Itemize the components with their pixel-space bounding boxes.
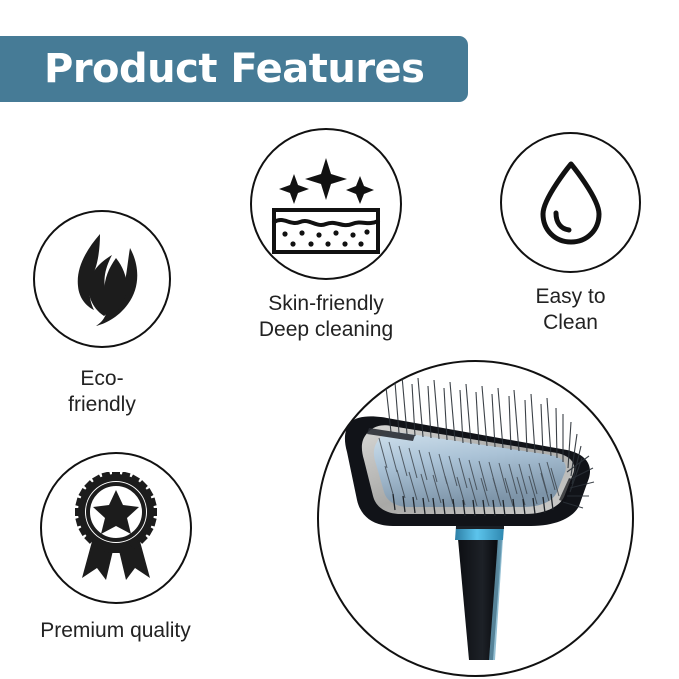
- feature-eco-friendly: Eco- friendly: [12, 210, 192, 419]
- icon-circle-easy: [500, 132, 641, 273]
- icon-circle-premium: [40, 452, 192, 604]
- page-title: Product Features: [44, 46, 424, 92]
- feature-easy-to-clean: Easy to Clean: [498, 132, 643, 337]
- leaves-icon: [56, 228, 148, 330]
- feature-skin-friendly: Skin-friendly Deep cleaning: [222, 128, 430, 344]
- award-rosette-icon: [64, 472, 168, 584]
- feature-label-skin: Skin-friendly Deep cleaning: [222, 291, 430, 344]
- feature-label-easy: Easy to Clean: [498, 284, 643, 337]
- icon-circle-skin: [250, 128, 402, 280]
- infographic-page: Product Features Eco- friendly: [0, 0, 679, 679]
- water-drop-icon: [535, 158, 607, 248]
- feature-label-premium: Premium quality: [8, 618, 223, 644]
- feature-premium-quality: Premium quality: [8, 452, 223, 644]
- feature-label-eco: Eco- friendly: [12, 366, 192, 419]
- skin-sparkle-icon: [268, 152, 384, 256]
- header-banner: Product Features: [0, 36, 468, 102]
- icon-circle-eco: [33, 210, 171, 348]
- product-photo-circle: [317, 360, 634, 677]
